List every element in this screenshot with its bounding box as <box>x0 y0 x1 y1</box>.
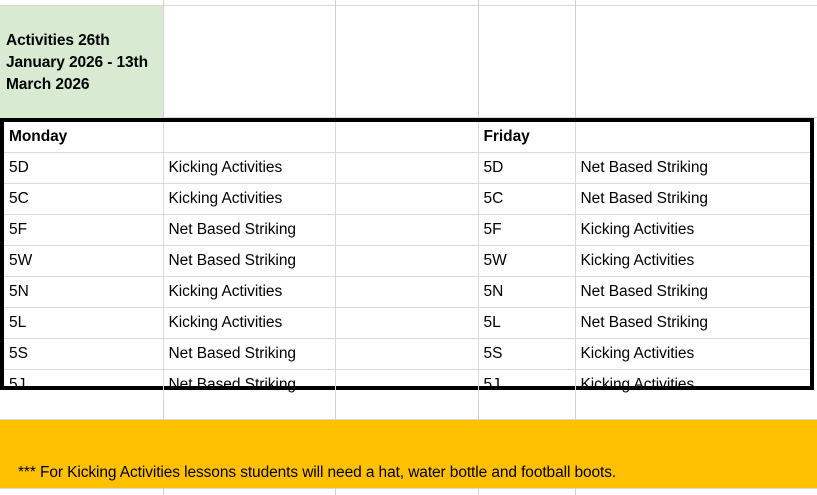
cell-monday-class[interactable]: 5F <box>4 215 163 246</box>
cell-monday-class[interactable]: 5C <box>4 184 163 215</box>
cell-spacer[interactable] <box>335 339 478 370</box>
cell-spacer[interactable] <box>335 277 478 308</box>
table-row: 5C Kicking Activities 5C Net Based Strik… <box>4 184 810 215</box>
cell-friday-class[interactable]: 5F <box>478 215 575 246</box>
cell-spacer[interactable] <box>335 370 478 401</box>
equipment-note-text: *** For Kicking Activities lessons stude… <box>18 464 616 482</box>
header-friday[interactable]: Friday <box>478 122 575 153</box>
table-row: 5N Kicking Activities 5N Net Based Strik… <box>4 277 810 308</box>
cell-monday-class[interactable]: 5W <box>4 246 163 277</box>
cell-friday-activity[interactable]: Net Based Striking <box>575 308 810 339</box>
cell-monday-activity[interactable]: Net Based Striking <box>163 246 335 277</box>
cell-friday-class[interactable]: 5N <box>478 277 575 308</box>
cell-monday-class[interactable]: 5L <box>4 308 163 339</box>
table-row: 5L Kicking Activities 5L Net Based Strik… <box>4 308 810 339</box>
gridline-horizontal <box>0 488 817 489</box>
cell-friday-activity[interactable]: Net Based Striking <box>575 277 810 308</box>
header-spacer[interactable] <box>335 122 478 153</box>
cell-monday-activity[interactable]: Kicking Activities <box>163 153 335 184</box>
cell-monday-activity[interactable]: Kicking Activities <box>163 277 335 308</box>
cell-friday-class[interactable]: 5J <box>478 370 575 401</box>
cell-spacer[interactable] <box>335 153 478 184</box>
cell-friday-class[interactable]: 5L <box>478 308 575 339</box>
table-row: 5D Kicking Activities 5D Net Based Strik… <box>4 153 810 184</box>
timetable-body: Monday Friday 5D Kicking Activities 5D N… <box>4 122 810 400</box>
cell-friday-class[interactable]: 5C <box>478 184 575 215</box>
cell-monday-activity[interactable]: Kicking Activities <box>163 308 335 339</box>
activities-title-cell[interactable]: Activities 26th January 2026 - 13th Marc… <box>0 6 163 118</box>
cell-friday-activity[interactable]: Net Based Striking <box>575 153 810 184</box>
table-row: 5W Net Based Striking 5W Kicking Activit… <box>4 246 810 277</box>
cell-friday-class[interactable]: 5D <box>478 153 575 184</box>
cell-spacer[interactable] <box>335 308 478 339</box>
cell-friday-activity[interactable]: Kicking Activities <box>575 339 810 370</box>
cell-spacer[interactable] <box>335 215 478 246</box>
header-friday-activity[interactable] <box>575 122 810 153</box>
cell-monday-activity[interactable]: Net Based Striking <box>163 215 335 246</box>
header-monday[interactable]: Monday <box>4 122 163 153</box>
table-row: 5S Net Based Striking 5S Kicking Activit… <box>4 339 810 370</box>
equipment-note-banner[interactable]: *** For Kicking Activities lessons stude… <box>0 420 817 488</box>
cell-monday-activity[interactable]: Net Based Striking <box>163 339 335 370</box>
header-monday-activity[interactable] <box>163 122 335 153</box>
cell-monday-activity[interactable]: Kicking Activities <box>163 184 335 215</box>
cell-monday-class[interactable]: 5S <box>4 339 163 370</box>
cell-monday-class[interactable]: 5D <box>4 153 163 184</box>
cell-friday-activity[interactable]: Kicking Activities <box>575 215 810 246</box>
cell-monday-class[interactable]: 5N <box>4 277 163 308</box>
cell-monday-class[interactable]: 5J <box>4 370 163 401</box>
cell-friday-activity[interactable]: Kicking Activities <box>575 370 810 401</box>
timetable: Monday Friday 5D Kicking Activities 5D N… <box>4 122 810 400</box>
cell-spacer[interactable] <box>335 246 478 277</box>
cell-friday-class[interactable]: 5W <box>478 246 575 277</box>
table-row: 5F Net Based Striking 5F Kicking Activit… <box>4 215 810 246</box>
cell-spacer[interactable] <box>335 184 478 215</box>
table-row: 5J Net Based Striking 5J Kicking Activit… <box>4 370 810 401</box>
cell-friday-activity[interactable]: Net Based Striking <box>575 184 810 215</box>
cell-monday-activity[interactable]: Net Based Striking <box>163 370 335 401</box>
table-header-row: Monday Friday <box>4 122 810 153</box>
cell-friday-class[interactable]: 5S <box>478 339 575 370</box>
spreadsheet-canvas: Activities 26th January 2026 - 13th Marc… <box>0 0 817 495</box>
timetable-block: Monday Friday 5D Kicking Activities 5D N… <box>0 118 814 390</box>
cell-friday-activity[interactable]: Kicking Activities <box>575 246 810 277</box>
